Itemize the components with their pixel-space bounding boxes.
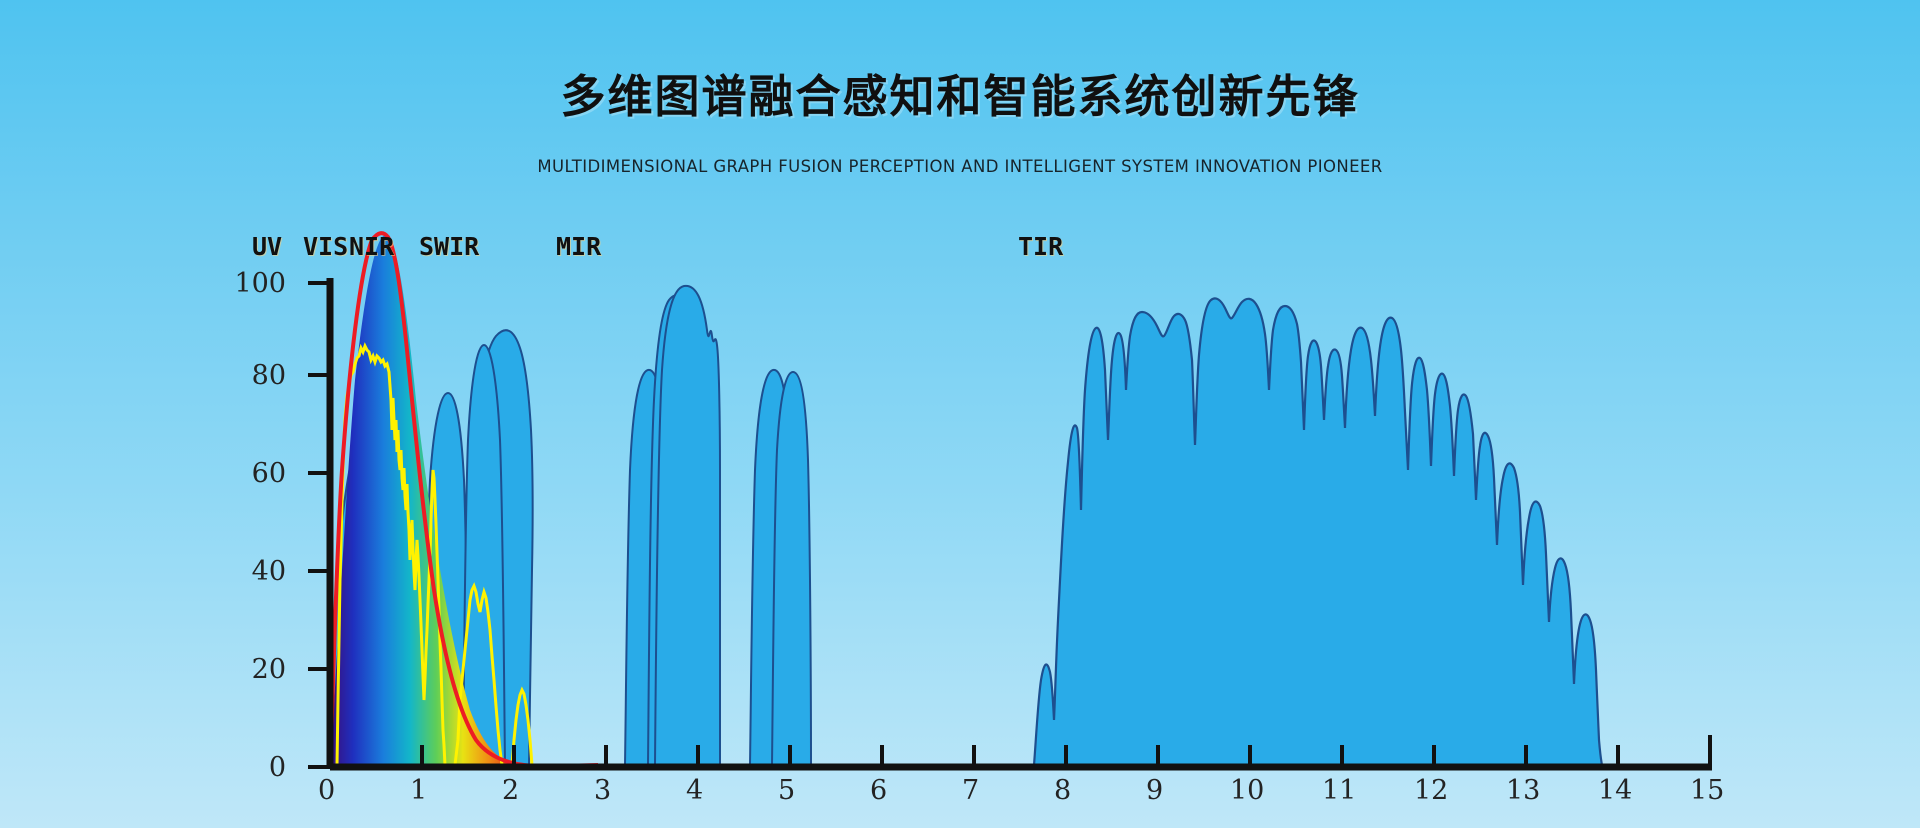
y-tick-40: 40 (228, 556, 286, 587)
window-tir (1034, 298, 1602, 765)
y-tick-80: 80 (228, 360, 286, 391)
x-tick-14: 14 (1598, 775, 1632, 806)
x-tick-11: 11 (1322, 775, 1356, 806)
y-tick-60: 60 (228, 458, 286, 489)
x-tick-9: 9 (1146, 775, 1163, 806)
y-tick-0: 0 (228, 752, 286, 783)
band-label-nir: NIR (349, 232, 394, 261)
x-tick-10: 10 (1230, 775, 1264, 806)
x-tick-13: 13 (1506, 775, 1540, 806)
x-tick-2: 2 (502, 775, 519, 806)
band-label-tir: TIR (1018, 232, 1063, 261)
x-tick-7: 7 (962, 775, 979, 806)
x-tick-3: 3 (594, 775, 611, 806)
x-tick-4: 4 (686, 775, 703, 806)
window-mir-5 (772, 372, 811, 765)
y-tick-100: 100 (218, 268, 286, 299)
band-label-vis: VIS (303, 232, 348, 261)
banner-root: 多维图谱融合感知和智能系统创新先锋 MULTIDIMENSIONAL GRAPH… (0, 0, 1920, 828)
band-label-uv: UV (252, 232, 282, 261)
x-tick-6: 6 (870, 775, 887, 806)
x-tick-8: 8 (1054, 775, 1071, 806)
y-tick-20: 20 (228, 654, 286, 685)
spectrum-chart (0, 0, 1920, 828)
x-tick-12: 12 (1414, 775, 1448, 806)
band-label-mir: MIR (556, 232, 601, 261)
x-tick-0: 0 (318, 775, 335, 806)
window-mir-3 (655, 286, 720, 765)
x-tick-15: 15 (1690, 775, 1724, 806)
x-tick-5: 5 (778, 775, 795, 806)
x-tick-1: 1 (410, 775, 427, 806)
window-swir-3 (463, 345, 505, 765)
band-label-swir: SWIR (419, 232, 479, 261)
